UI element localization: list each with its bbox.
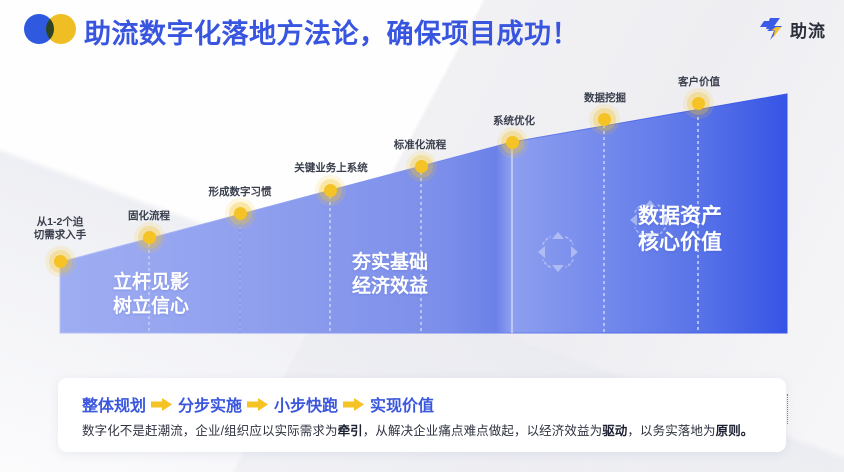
milestone-label-1-line1: 从1-2个迫	[10, 216, 110, 229]
summary-description: 数字化不是赶潮流，企业/组织应以实际需求为牵引，从解决企业痛点难点做起，以经济效…	[82, 420, 753, 439]
milestone-label-4: 关键业务上系统	[273, 162, 389, 175]
brand-name: 助流	[790, 17, 826, 42]
stage-title-1-line2: 树立信心	[76, 295, 226, 319]
desc-part-5: ，以务实落地为	[627, 424, 715, 438]
milestone-dot-5[interactable]	[415, 160, 428, 173]
milestone-dot-4[interactable]	[324, 184, 337, 197]
milestone-dot-7[interactable]	[598, 113, 611, 126]
desc-part-1: 数字化不是赶潮流，企业/组织应以实际需求为	[82, 424, 338, 438]
two-overlapping-circles-logo	[24, 14, 76, 44]
milestone-label-1: 从1-2个迫 切需求入手	[10, 216, 110, 242]
milestone-label-1-line2: 切需求入手	[10, 229, 110, 242]
page-title: 助流数字化落地方法论，确保项目成功！	[84, 12, 579, 51]
right-arrow-icon-2	[247, 398, 269, 411]
step-label-4: 实现价值	[370, 392, 434, 416]
desc-part-3: ，从解决企业痛点难点做起，以经济效益为	[363, 424, 602, 438]
steps-row: 整体规划 分步实施 小步快跑 实现价值	[82, 392, 434, 416]
milestone-dot-1[interactable]	[54, 255, 67, 268]
lightning-bolt-icon	[760, 16, 786, 42]
milestone-label-6: 系统优化	[470, 115, 558, 128]
step-label-2: 分步实施	[178, 392, 242, 416]
desc-part-4: 驱动	[602, 424, 627, 438]
desc-part-2: 牵引	[338, 424, 363, 438]
step-label-3: 小步快跑	[274, 392, 338, 416]
circular-arrows-icon	[536, 230, 580, 274]
step-label-1: 整体规划	[82, 392, 146, 416]
right-arrow-icon-3	[343, 398, 365, 411]
desc-part-6: 原则。	[716, 424, 754, 438]
milestone-label-2: 固化流程	[104, 210, 194, 223]
stage-title-1-line1: 立杆见影	[76, 271, 226, 295]
milestone-label-5: 标准化流程	[370, 139, 470, 152]
stage-title-1: 立杆见影 树立信心	[76, 271, 226, 319]
stage-title-3-line2: 核心价值	[590, 230, 770, 256]
stage-title-3-line1: 数据资产	[590, 204, 770, 230]
milestone-label-3: 形成数字习惯	[185, 186, 295, 199]
stage-title-2: 夯实基础 经济效益	[300, 251, 480, 299]
stage-title-2-line2: 经济效益	[300, 275, 480, 299]
right-arrow-icon-1	[151, 398, 173, 411]
axis-tick-end	[787, 394, 788, 424]
methodology-chart: 立杆见影 树立信心 夯实基础 经济效益 数据资产 核心价值	[0, 58, 844, 358]
brand-lockup: 助流	[760, 16, 826, 42]
page-header: 助流数字化落地方法论，确保项目成功！ 助流	[0, 0, 844, 58]
milestone-dot-6[interactable]	[506, 136, 519, 149]
milestone-dot-3[interactable]	[234, 207, 247, 220]
stage-title-3: 数据资产 核心价值	[590, 204, 770, 257]
milestone-dot-2[interactable]	[143, 231, 156, 244]
milestone-label-7: 数据挖掘	[561, 92, 649, 105]
logo-circle-gold	[46, 14, 76, 44]
summary-card: 整体规划 分步实施 小步快跑 实现价值 数字化不是赶潮流，企业/组织应以实际需求…	[58, 378, 786, 452]
milestone-dot-8[interactable]	[692, 97, 705, 110]
stage-title-2-line1: 夯实基础	[300, 251, 480, 275]
milestone-label-8: 客户价值	[655, 76, 743, 89]
circular-arrows-icon-2	[628, 198, 672, 242]
slope-area: 立杆见影 树立信心 夯实基础 经济效益 数据资产 核心价值	[0, 58, 844, 348]
